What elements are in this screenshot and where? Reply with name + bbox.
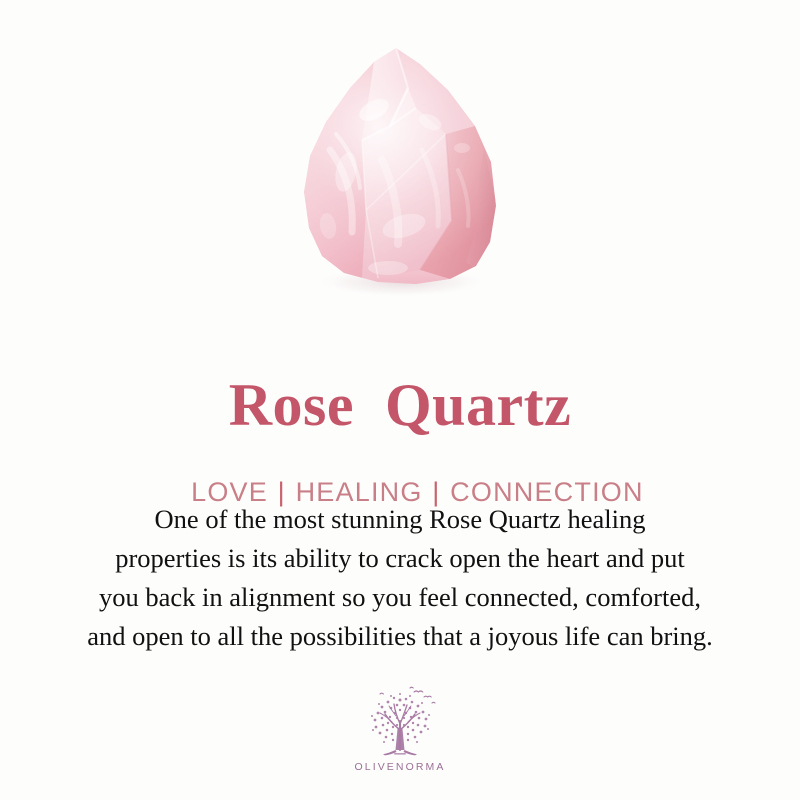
- brand-name: OLIVENORMA: [0, 761, 800, 773]
- description-line: properties is its ability to crack open …: [30, 539, 770, 578]
- rose-quartz-product-card: Rose Quartz LOVE | HEALING | CONNECTION …: [0, 0, 800, 800]
- tree-of-life-icon: [354, 684, 446, 758]
- brand-logo: OLIVENORMA: [0, 684, 800, 773]
- description-line: and open to all the possibilities that a…: [30, 617, 770, 656]
- description-line: One of the most stunning Rose Quartz hea…: [30, 500, 770, 539]
- product-description: One of the most stunning Rose Quartz hea…: [30, 500, 770, 656]
- crystal-image-area: [0, 0, 800, 310]
- page-title: Rose Quartz: [0, 374, 800, 437]
- crystal-body: [270, 30, 530, 300]
- description-line: you back in alignment so you feel connec…: [30, 578, 770, 617]
- rose-quartz-crystal-icon: [270, 30, 530, 300]
- tree-trunk: [383, 728, 417, 755]
